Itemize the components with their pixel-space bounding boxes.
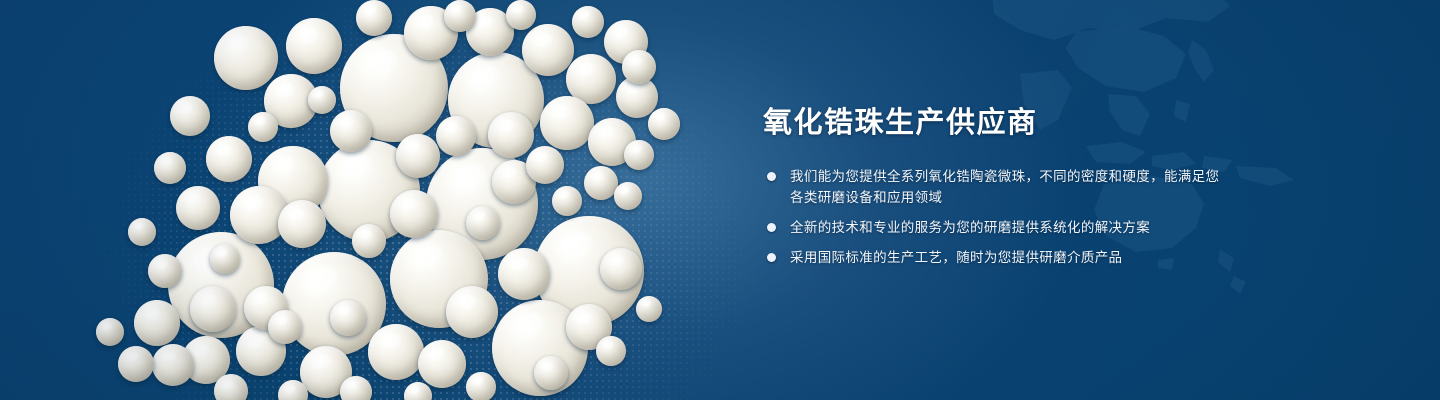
list-item: 采用国际标准的生产工艺，随时为您提供研磨介质产品 <box>763 247 1233 268</box>
hero-banner: 氧化锆珠生产供应商 我们能为您提供全系列氧化锆陶瓷微珠，不同的密度和硬度，能满足… <box>0 0 1440 400</box>
bullet-dot-icon <box>767 253 776 262</box>
bullet-text: 我们能为您提供全系列氧化锆陶瓷微珠，不同的密度和硬度，能满足您各类研磨设备和应用… <box>790 169 1219 205</box>
list-item: 我们能为您提供全系列氧化锆陶瓷微珠，不同的密度和硬度，能满足您各类研磨设备和应用… <box>763 166 1233 208</box>
bullet-dot-icon <box>767 172 776 181</box>
banner-headline: 氧化锆珠生产供应商 <box>763 104 1233 142</box>
feature-bullet-list: 我们能为您提供全系列氧化锆陶瓷微珠，不同的密度和硬度，能满足您各类研磨设备和应用… <box>763 166 1233 268</box>
bullet-text: 全新的技术和专业的服务为您的研磨提供系统化的解决方案 <box>790 220 1150 235</box>
bullet-text: 采用国际标准的生产工艺，随时为您提供研磨介质产品 <box>790 250 1122 265</box>
list-item: 全新的技术和专业的服务为您的研磨提供系统化的解决方案 <box>763 217 1233 238</box>
banner-copy: 氧化锆珠生产供应商 我们能为您提供全系列氧化锆陶瓷微珠，不同的密度和硬度，能满足… <box>763 104 1233 268</box>
bullet-dot-icon <box>767 223 776 232</box>
